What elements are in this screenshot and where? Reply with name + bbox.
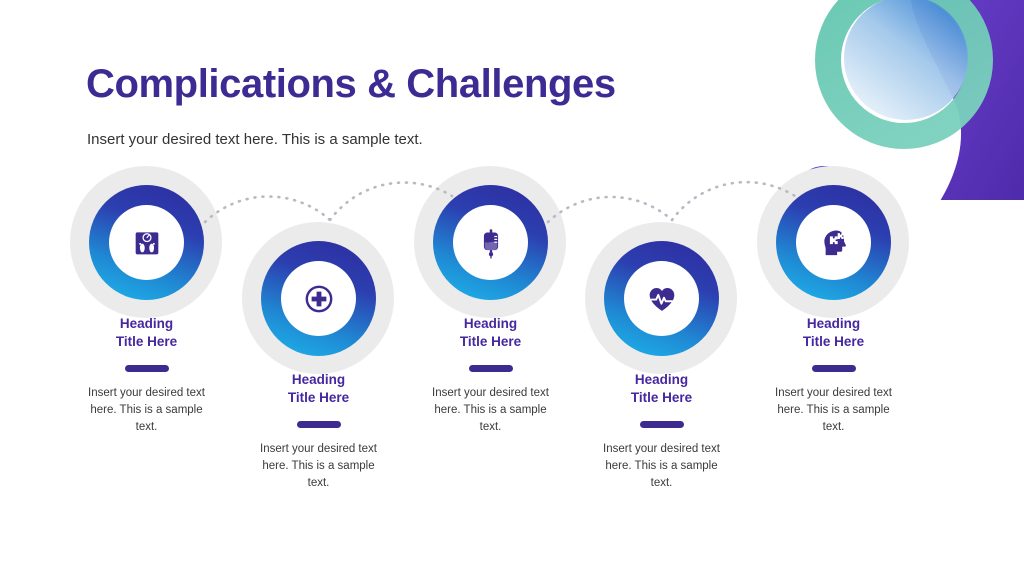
step-1-body: Insert your desired text here. This is a… bbox=[84, 385, 209, 435]
process-diagram: Heading Title Here Insert your desired t… bbox=[0, 160, 1024, 560]
step-2-caption: Heading Title Here Insert your desired t… bbox=[256, 371, 381, 491]
dotted-connector bbox=[548, 197, 672, 222]
step-5-caption: Heading Title Here Insert your desired t… bbox=[771, 315, 896, 435]
step-5-heading-line1: Heading bbox=[807, 316, 860, 331]
step-3-heading-line1: Heading bbox=[464, 316, 517, 331]
weight-scale-icon bbox=[130, 226, 164, 260]
step-5-body: Insert your desired text here. This is a… bbox=[771, 385, 896, 435]
step-5-divider bbox=[812, 365, 856, 372]
dotted-connector bbox=[205, 196, 330, 222]
step-4-heading: Heading Title Here bbox=[599, 371, 724, 407]
step-2-heading-line1: Heading bbox=[292, 372, 345, 387]
heart-pulse-icon bbox=[645, 282, 679, 316]
step-1-caption: Heading Title Here Insert your desired t… bbox=[84, 315, 209, 435]
step-2-ring[interactable] bbox=[261, 241, 376, 356]
page-subtitle: Insert your desired text here. This is a… bbox=[87, 131, 423, 148]
step-3-caption: Heading Title Here Insert your desired t… bbox=[428, 315, 553, 435]
step-4-divider bbox=[640, 421, 684, 428]
page-title: Complications & Challenges bbox=[86, 62, 616, 107]
head-puzzle-icon bbox=[817, 226, 851, 260]
iv-drip-bag-icon bbox=[474, 226, 508, 260]
step-5-heading: Heading Title Here bbox=[771, 315, 896, 351]
decor-teal-ring bbox=[828, 0, 980, 136]
step-4-body: Insert your desired text here. This is a… bbox=[599, 441, 724, 491]
step-2-divider bbox=[297, 421, 341, 428]
step-1-heading: Heading Title Here bbox=[84, 315, 209, 351]
step-3-divider bbox=[469, 365, 513, 372]
step-1-heading-line2: Title Here bbox=[116, 334, 177, 349]
step-3-heading-line2: Title Here bbox=[460, 334, 521, 349]
step-3-heading: Heading Title Here bbox=[428, 315, 553, 351]
step-3-body: Insert your desired text here. This is a… bbox=[428, 385, 553, 435]
step-5-ring[interactable] bbox=[776, 185, 891, 300]
step-1-heading-line1: Heading bbox=[120, 316, 173, 331]
step-1-divider bbox=[125, 365, 169, 372]
step-1-ring[interactable] bbox=[89, 185, 204, 300]
step-2-body: Insert your desired text here. This is a… bbox=[256, 441, 381, 491]
step-4-heading-line2: Title Here bbox=[631, 390, 692, 405]
decor-blue-circle bbox=[844, 0, 968, 120]
step-4-heading-line1: Heading bbox=[635, 372, 688, 387]
step-3-ring[interactable] bbox=[433, 185, 548, 300]
step-4-ring[interactable] bbox=[604, 241, 719, 356]
step-2-heading: Heading Title Here bbox=[256, 371, 381, 407]
medical-cross-circle-icon bbox=[302, 282, 336, 316]
step-5-heading-line2: Title Here bbox=[803, 334, 864, 349]
step-4-caption: Heading Title Here Insert your desired t… bbox=[599, 371, 724, 491]
step-2-heading-line2: Title Here bbox=[288, 390, 349, 405]
